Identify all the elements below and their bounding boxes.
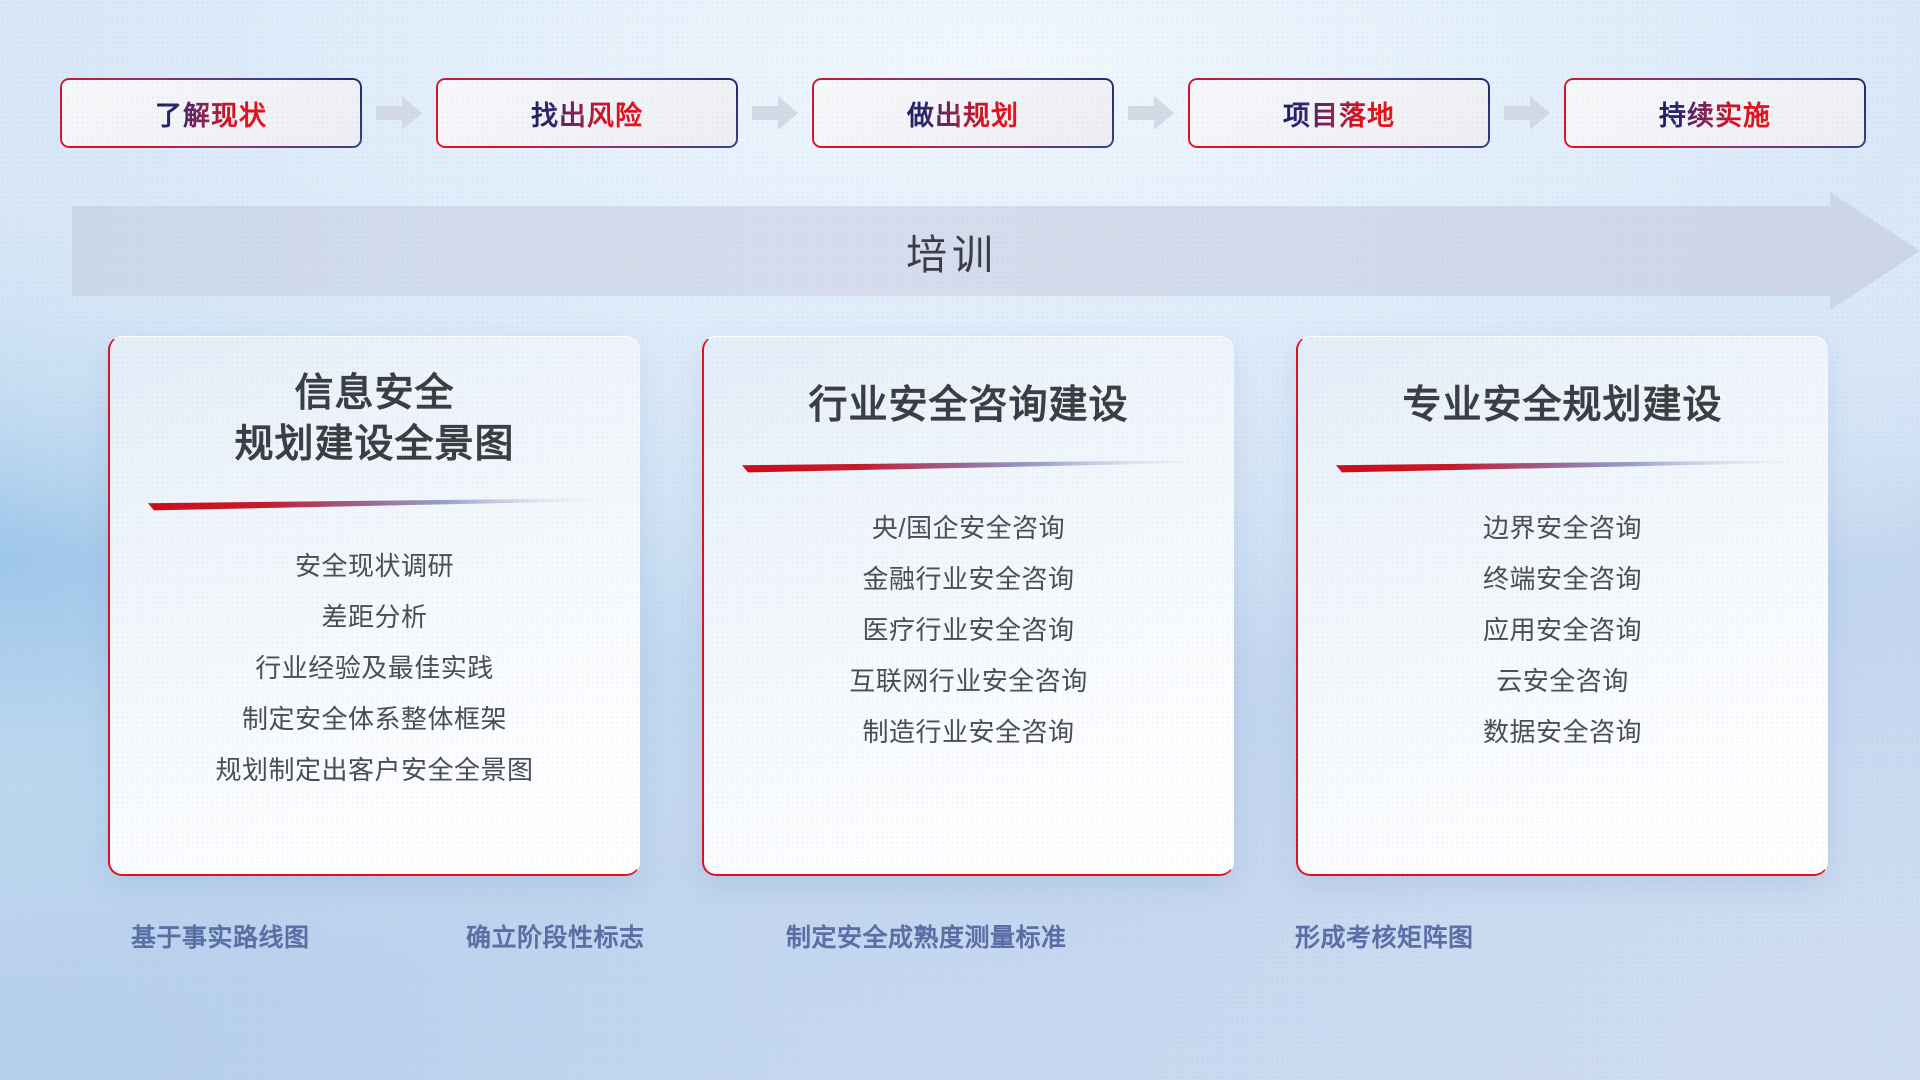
footer-caption-1: 确立阶段性标志: [466, 918, 645, 954]
list-item: 云安全咨询: [1496, 656, 1629, 707]
process-step-wrap-1: 找出风险: [436, 78, 812, 148]
list-item: 制定安全体系整体框架: [242, 694, 507, 745]
tapered-gradient-divider-icon-1: [742, 460, 1196, 473]
process-step-2[interactable]: 做出规划: [812, 78, 1114, 148]
list-item: 互联网行业安全咨询: [849, 656, 1088, 707]
card-0[interactable]: 信息安全 规划建设全景图: [108, 336, 640, 876]
process-step-1[interactable]: 找出风险: [436, 78, 738, 148]
list-item: 央/国企安全咨询: [872, 503, 1065, 554]
chevron-right-arrow-icon-3: [1490, 78, 1564, 148]
card-list-0: 安全现状调研 差距分析 行业经验及最佳实践 制定安全体系整体框架 规划制定出客户…: [110, 541, 639, 796]
chevron-right-arrow-icon-0: [362, 78, 436, 148]
infographic-stage: 了解现状 找出风险 做出规划: [0, 0, 1920, 1080]
process-step-wrap-2: 做出规划: [812, 78, 1188, 148]
cards-row: 信息安全 规划建设全景图: [108, 336, 1828, 876]
list-item: 数据安全咨询: [1483, 707, 1642, 758]
card-title-1: 行业安全咨询建设: [704, 381, 1233, 432]
chevron-right-arrow-icon-2: [1114, 78, 1188, 148]
list-item: 医疗行业安全咨询: [862, 605, 1074, 656]
card-title-2: 专业安全规划建设: [1298, 381, 1827, 432]
tapered-gradient-divider-icon-0: [148, 498, 602, 511]
list-item: 应用安全咨询: [1483, 605, 1642, 656]
card-title-line: 规划建设全景图: [110, 420, 639, 471]
process-step-label-0: 了解现状: [155, 94, 267, 133]
chevron-right-arrow-icon-1: [738, 78, 812, 148]
card-list-1: 央/国企安全咨询 金融行业安全咨询 医疗行业安全咨询 互联网行业安全咨询 制造行…: [704, 503, 1233, 758]
training-band-label: 培训: [72, 206, 1832, 296]
card-title-0: 信息安全 规划建设全景图: [110, 369, 639, 470]
right-arrow-band-icon: [1830, 192, 1920, 310]
list-item: 差距分析: [321, 592, 427, 643]
list-item: 金融行业安全咨询: [862, 554, 1074, 605]
list-item: 终端安全咨询: [1483, 554, 1642, 605]
process-step-3[interactable]: 项目落地: [1188, 78, 1490, 148]
footer-caption-3: 形成考核矩阵图: [1295, 918, 1474, 954]
card-title-line: 信息安全: [110, 369, 639, 420]
training-band: 培训: [72, 206, 1920, 296]
process-step-label-4: 持续实施: [1659, 94, 1771, 133]
list-item: 行业经验及最佳实践: [255, 643, 494, 694]
process-step-label-1: 找出风险: [531, 94, 643, 133]
process-step-label-2: 做出规划: [907, 94, 1019, 133]
footer-caption-0: 基于事实路线图: [131, 918, 310, 954]
card-1[interactable]: 行业安全咨询建设: [702, 336, 1234, 876]
footer-caption-2: 制定安全成熟度测量标准: [786, 918, 1067, 954]
process-steps-row: 了解现状 找出风险 做出规划: [60, 78, 1860, 148]
list-item: 安全现状调研: [295, 541, 454, 592]
process-step-wrap-0: 了解现状: [60, 78, 436, 148]
tapered-gradient-divider-icon-2: [1336, 460, 1790, 473]
card-list-2: 边界安全咨询 终端安全咨询 应用安全咨询 云安全咨询 数据安全咨询: [1298, 503, 1827, 758]
process-step-wrap-4: 持续实施: [1564, 78, 1866, 148]
list-item: 规划制定出客户安全全景图: [215, 745, 533, 796]
footer-captions: 基于事实路线图 确立阶段性标志 制定安全成熟度测量标准 形成考核矩阵图: [0, 918, 1920, 964]
card-title-line: 行业安全咨询建设: [704, 381, 1233, 432]
card-title-line: 专业安全规划建设: [1298, 381, 1827, 432]
process-step-label-3: 项目落地: [1283, 94, 1395, 133]
list-item: 制造行业安全咨询: [862, 707, 1074, 758]
process-step-4[interactable]: 持续实施: [1564, 78, 1866, 148]
card-2[interactable]: 专业安全规划建设: [1296, 336, 1828, 876]
process-step-0[interactable]: 了解现状: [60, 78, 362, 148]
list-item: 边界安全咨询: [1483, 503, 1642, 554]
process-step-wrap-3: 项目落地: [1188, 78, 1564, 148]
